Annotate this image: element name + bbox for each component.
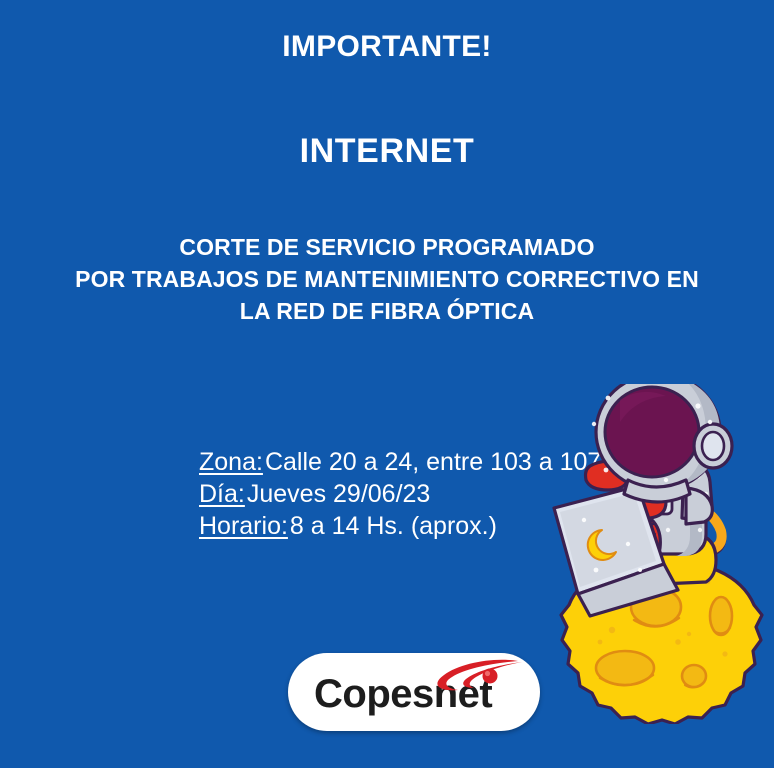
announcement-line-2: POR TRABAJOS DE MANTENIMIENTO CORRECTIVO…	[0, 263, 774, 295]
astronaut-illustration	[548, 384, 774, 724]
comet-swoosh-icon	[424, 659, 534, 693]
announcement-line-3: LA RED DE FIBRA ÓPTICA	[0, 295, 774, 327]
detail-value-dia: Jueves 29/06/23	[245, 480, 430, 508]
announcement-body: CORTE DE SERVICIO PROGRAMADO POR TRABAJO…	[0, 231, 774, 327]
detail-label-horario: Horario:	[199, 512, 288, 540]
helmet-visor	[605, 387, 699, 477]
detail-row-dia: Día:Jueves 29/06/23	[199, 478, 601, 510]
detail-value-horario: 8 a 14 Hs. (aprox.)	[288, 512, 497, 540]
service-title-internet: INTERNET	[0, 129, 774, 173]
detail-row-horario: Horario:8 a 14 Hs. (aprox.)	[199, 510, 601, 542]
details-block: Zona:Calle 20 a 24, entre 103 a 107 Día:…	[199, 446, 601, 542]
detail-label-dia: Día:	[199, 480, 245, 508]
detail-label-zona: Zona:	[199, 448, 263, 476]
page-title-importante: IMPORTANTE!	[0, 28, 774, 66]
announcement-poster: IMPORTANTE! INTERNET CORTE DE SERVICIO P…	[0, 0, 774, 768]
copesnet-logo[interactable]: Copesnet	[288, 653, 540, 731]
announcement-line-1: CORTE DE SERVICIO PROGRAMADO	[0, 231, 774, 263]
detail-row-zona: Zona:Calle 20 a 24, entre 103 a 107	[199, 446, 601, 478]
